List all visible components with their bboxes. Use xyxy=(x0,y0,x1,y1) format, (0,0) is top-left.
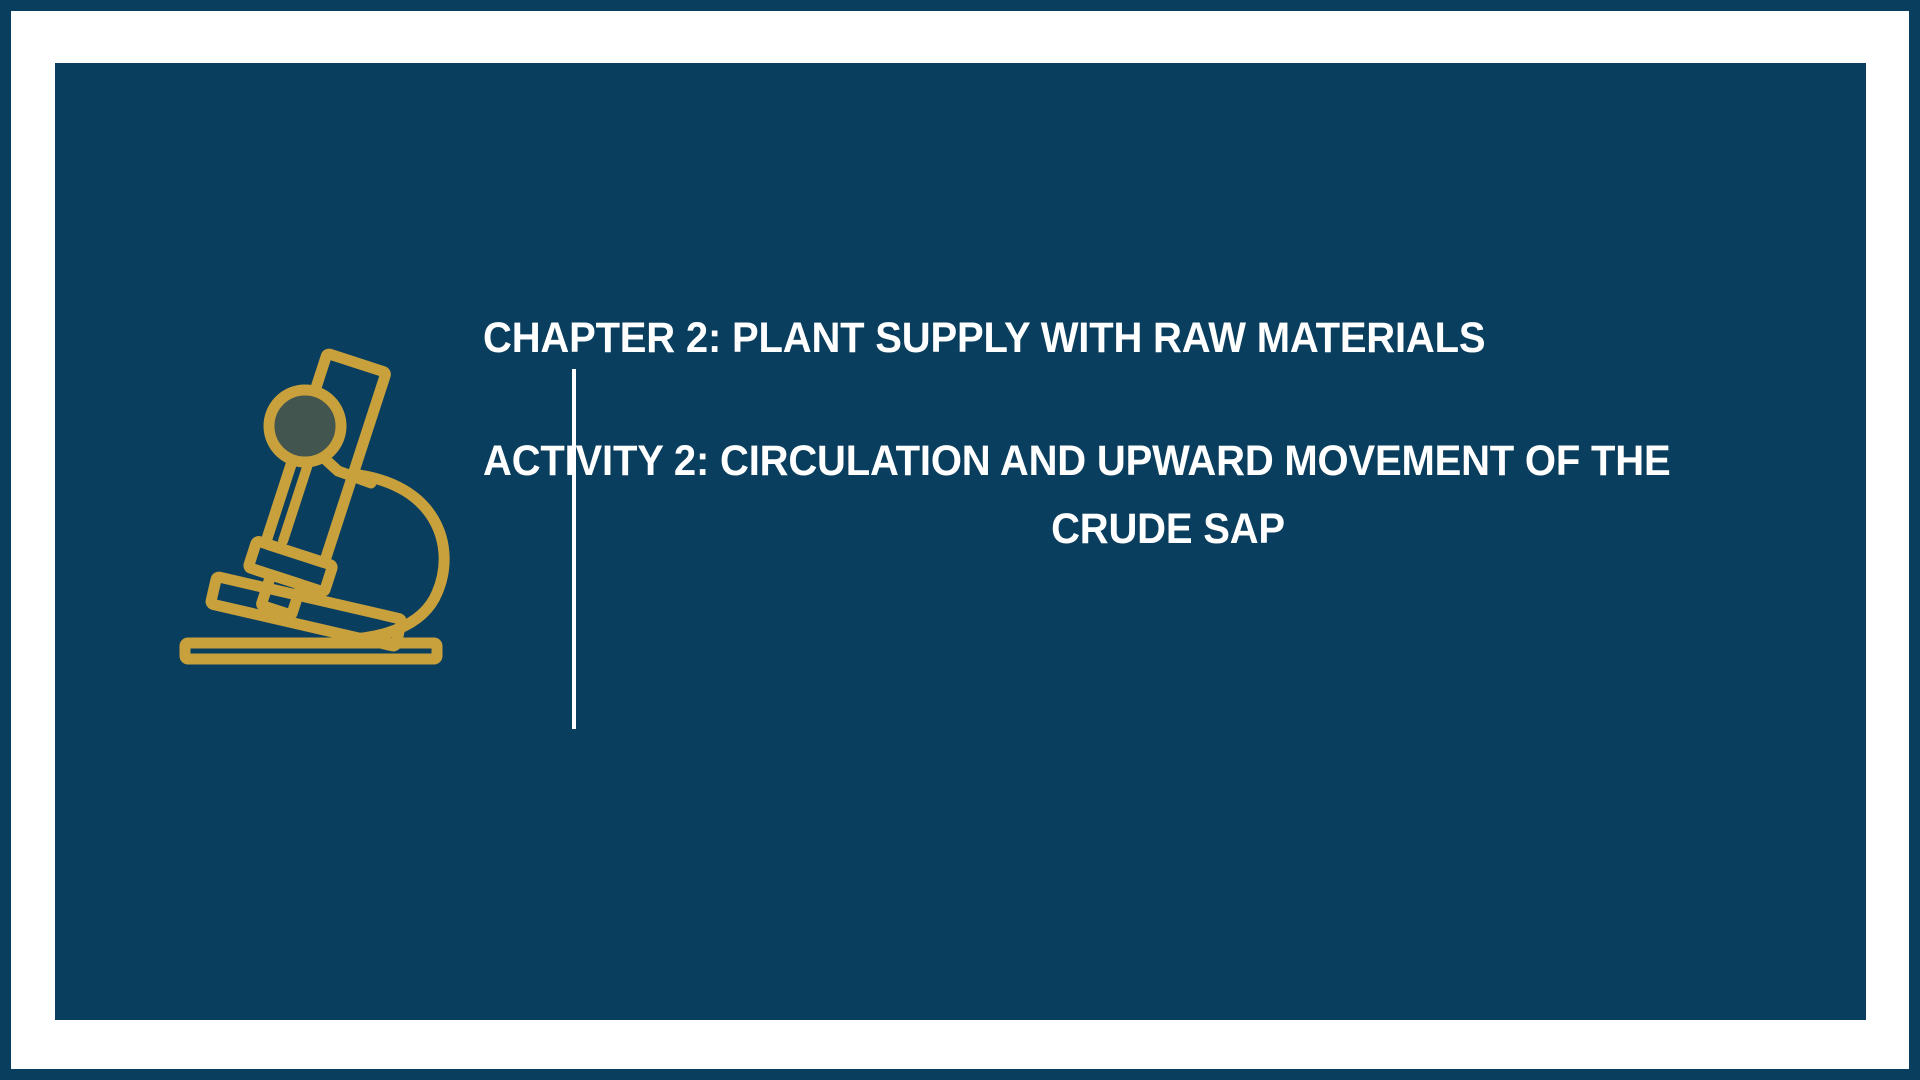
slide-title-block: CHAPTER 2: PLANT SUPPLY WITH RAW MATERIA… xyxy=(483,313,1853,555)
slide-canvas: CHAPTER 2: PLANT SUPPLY WITH RAW MATERIA… xyxy=(0,0,1920,1080)
slide-content-panel: CHAPTER 2: PLANT SUPPLY WITH RAW MATERIA… xyxy=(55,63,1866,1020)
title-line-subject: CRUDE SAP xyxy=(531,504,1805,555)
microscope-icon xyxy=(175,343,495,673)
title-line-activity: ACTIVITY 2: CIRCULATION AND UPWARD MOVEM… xyxy=(483,436,1757,487)
title-line-chapter: CHAPTER 2: PLANT SUPPLY WITH RAW MATERIA… xyxy=(483,313,1757,364)
